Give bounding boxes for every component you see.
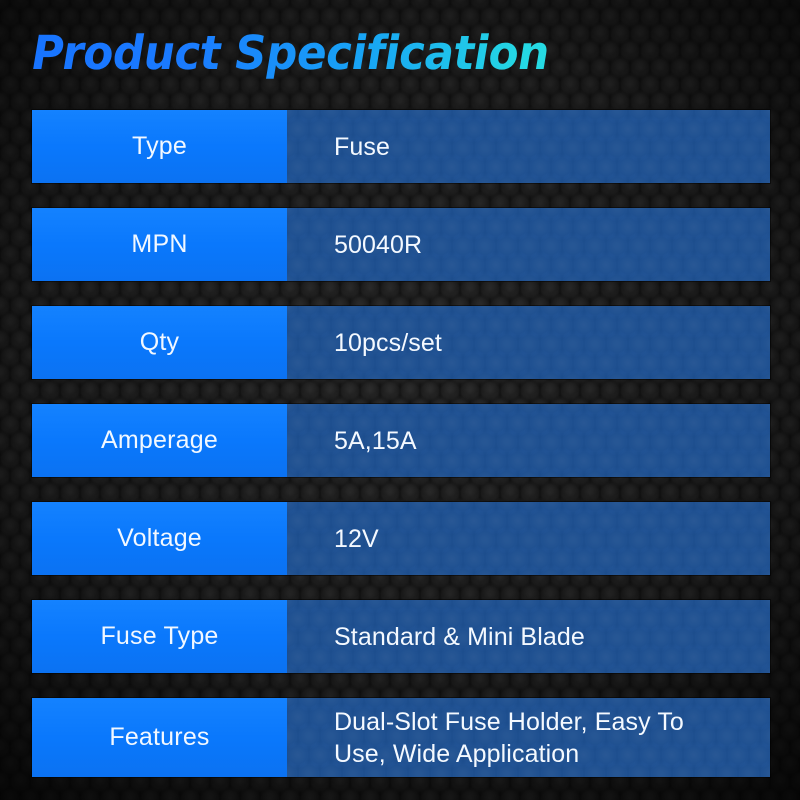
spec-value-text: Standard & Mini Blade xyxy=(334,621,585,653)
table-row: Qty 10pcs/set xyxy=(32,306,770,379)
spec-value-text: 50040R xyxy=(334,229,422,261)
spec-value-text: Fuse xyxy=(334,131,390,163)
spec-value-voltage: 12V xyxy=(287,502,770,575)
spec-value-amperage: 5A,15A xyxy=(287,404,770,477)
spec-label-type: Type xyxy=(32,110,287,183)
spec-label-amperage: Amperage xyxy=(32,404,287,477)
spec-label-qty: Qty xyxy=(32,306,287,379)
product-specification-page: Product Specification Type Fuse MPN 5004… xyxy=(0,0,800,800)
spec-value-qty: 10pcs/set xyxy=(287,306,770,379)
spec-label-voltage: Voltage xyxy=(32,502,287,575)
spec-label-features: Features xyxy=(32,698,287,777)
specification-table: Type Fuse MPN 50040R Qty 10pcs/set Amper… xyxy=(32,110,770,777)
spec-value-fuse-type: Standard & Mini Blade xyxy=(287,600,770,673)
page-title: Product Specification xyxy=(32,26,684,82)
table-row: Features Dual-Slot Fuse Holder, Easy To … xyxy=(32,698,770,777)
table-row: Type Fuse xyxy=(32,110,770,183)
spec-value-features: Dual-Slot Fuse Holder, Easy To Use, Wide… xyxy=(287,698,770,777)
spec-value-text: Dual-Slot Fuse Holder, Easy To Use, Wide… xyxy=(334,706,684,770)
spec-value-text: 10pcs/set xyxy=(334,327,442,359)
spec-value-type: Fuse xyxy=(287,110,770,183)
table-row: MPN 50040R xyxy=(32,208,770,281)
spec-value-text: 12V xyxy=(334,523,379,555)
spec-value-text: 5A,15A xyxy=(334,425,417,457)
spec-label-fuse-type: Fuse Type xyxy=(32,600,287,673)
spec-label-mpn: MPN xyxy=(32,208,287,281)
table-row: Fuse Type Standard & Mini Blade xyxy=(32,600,770,673)
table-row: Amperage 5A,15A xyxy=(32,404,770,477)
table-row: Voltage 12V xyxy=(32,502,770,575)
spec-value-mpn: 50040R xyxy=(287,208,770,281)
